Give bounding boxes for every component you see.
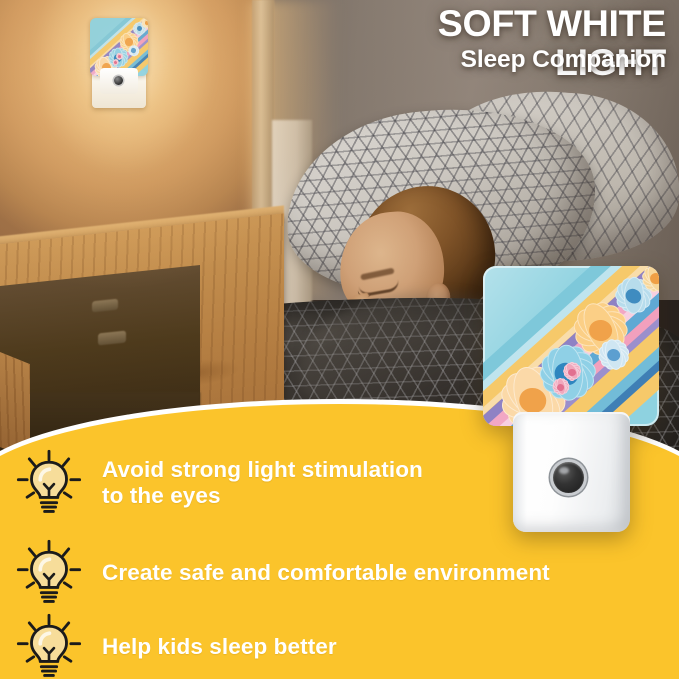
feature-item: Help kids sleep better <box>14 612 337 679</box>
product-marketing-image: SOFT WHITE LIGHT Sleep Companion Avoid s… <box>0 0 679 679</box>
feature-label: Create safe and comfortable environment <box>102 560 550 586</box>
lightbulb-icon <box>14 538 84 608</box>
light-sensor-icon <box>553 462 584 493</box>
feature-item: Avoid strong light stimulation to the ey… <box>14 448 423 518</box>
night-light-on-wall <box>90 18 152 110</box>
lightbulb-icon <box>14 448 84 518</box>
page-subtitle: Sleep Companion <box>318 47 666 74</box>
feature-label: Help kids sleep better <box>102 634 337 660</box>
child-eyebrow <box>360 268 395 281</box>
feature-label: Avoid strong light stimulation to the ey… <box>102 457 423 509</box>
lightbulb-icon <box>14 612 84 679</box>
daisy-flower <box>140 18 148 29</box>
product-night-light <box>483 266 659 536</box>
light-sensor-icon <box>114 76 123 85</box>
product-artwork-panel <box>483 266 659 426</box>
feature-item: Create safe and comfortable environment <box>14 538 550 608</box>
product-body-edge <box>513 414 527 532</box>
